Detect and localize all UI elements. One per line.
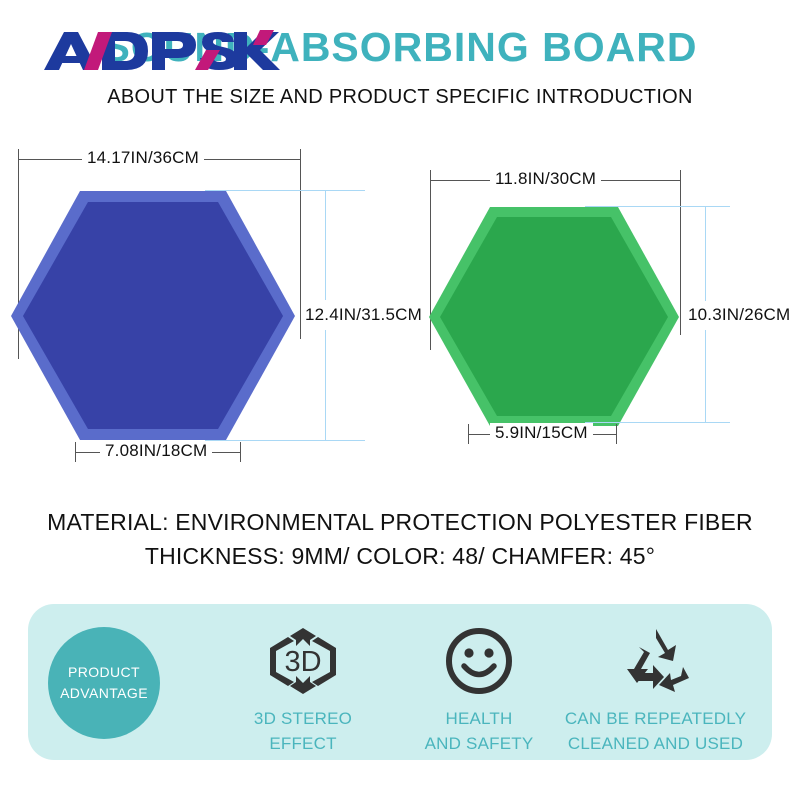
product-advantage-bar: PRODUCT ADVANTAGE 3D 3D STEREO EFFECT: [28, 604, 772, 760]
blue-right-extension-line: [300, 149, 301, 339]
green-hexagon-shape: [426, 204, 682, 429]
product-infographic: SOUND-ABSORBING BOARD ABOUT THE SIZE AND…: [0, 0, 800, 800]
feature-3d-stereo: 3D 3D STEREO EFFECT: [208, 622, 398, 756]
product-advantage-badge: PRODUCT ADVANTAGE: [48, 627, 160, 739]
material-line-1: MATERIAL: ENVIRONMENTAL PROTECTION POLYE…: [0, 505, 800, 539]
green-height-label: 10.3IN/26CM: [688, 305, 790, 325]
green-height-dim-line-lower: [705, 330, 706, 422]
feature-health-label-2: AND SAFETY: [425, 731, 534, 756]
blue-bottom-dim-tick-left: [75, 442, 76, 462]
green-bottom-dim-tick-right: [616, 424, 617, 444]
3d-hexagon-icon: 3D: [266, 622, 340, 700]
green-bottom-dim-tick-left: [468, 424, 469, 444]
3d-icon-text: 3D: [284, 646, 321, 678]
feature-3d-label-1: 3D STEREO: [254, 706, 352, 731]
blue-height-dim-line-lower: [325, 330, 326, 440]
smiley-face-icon: [443, 622, 515, 700]
green-height-ext-bottom: [585, 422, 730, 423]
blue-height-ext-top: [205, 190, 365, 191]
material-section: MATERIAL: ENVIRONMENTAL PROTECTION POLYE…: [0, 505, 800, 573]
material-line-2: THICKNESS: 9MM/ COLOR: 48/ CHAMFER: 45°: [0, 539, 800, 573]
blue-panel-diagram: 14.17IN/36CM 7.08IN/18CM 12.4IN/31.5CM: [0, 130, 400, 500]
green-panel-diagram: 11.8IN/30CM 5.9IN/15CM 10.3IN/26CM: [400, 130, 800, 500]
blue-hexagon-shape: [8, 188, 298, 443]
green-width-label: 11.8IN/30CM: [490, 169, 601, 189]
blue-height-dim-line-upper: [325, 190, 326, 300]
feature-reusable-label-2: CLEANED AND USED: [565, 731, 746, 756]
feature-health-safety: HEALTH AND SAFETY: [384, 622, 574, 756]
blue-height-ext-bottom: [205, 440, 365, 441]
advantage-badge-line-1: PRODUCT: [68, 662, 140, 683]
advantage-badge-line-2: ADVANTAGE: [60, 683, 148, 704]
green-height-ext-top: [585, 206, 730, 207]
recycle-icon: [617, 622, 695, 700]
blue-width-label: 14.17IN/36CM: [82, 148, 204, 168]
brand-logo: [38, 26, 288, 78]
feature-health-label-1: HEALTH: [425, 706, 534, 731]
blue-bottom-label: 7.08IN/18CM: [100, 441, 212, 461]
page-subtitle: ABOUT THE SIZE AND PRODUCT SPECIFIC INTR…: [0, 86, 800, 109]
green-bottom-label: 5.9IN/15CM: [490, 423, 593, 443]
feature-reusable-label-1: CAN BE REPEATEDLY: [565, 706, 746, 731]
blue-bottom-dim-tick-right: [240, 442, 241, 462]
specifications-section: 14.17IN/36CM 7.08IN/18CM 12.4IN/31.5CM: [0, 130, 800, 500]
feature-3d-label-2: EFFECT: [254, 731, 352, 756]
green-height-dim-line-upper: [705, 206, 706, 301]
feature-reusable: CAN BE REPEATEDLY CLEANED AND USED: [548, 622, 763, 756]
header: SOUND-ABSORBING BOARD ABOUT THE SIZE AND…: [0, 0, 800, 130]
